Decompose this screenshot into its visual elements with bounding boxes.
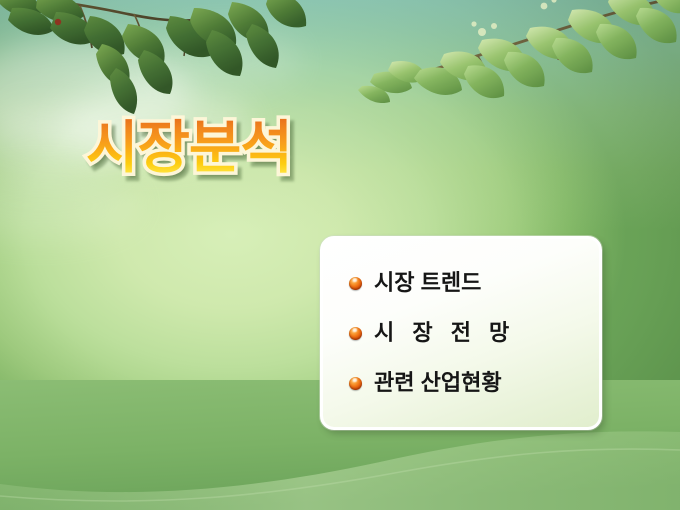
bullet-sphere-icon bbox=[349, 327, 362, 340]
content-panel-inner: 시장 트렌드 시 장 전 망 관련 산업현황 bbox=[323, 239, 599, 427]
list-item[interactable]: 시 장 전 망 bbox=[349, 308, 599, 358]
list-item-label: 시 장 전 망 bbox=[374, 322, 515, 344]
list-item-label: 시장 트렌드 bbox=[374, 272, 481, 294]
list-item-label: 관련 산업현황 bbox=[374, 372, 502, 394]
content-panel: 시장 트렌드 시 장 전 망 관련 산업현황 bbox=[320, 236, 602, 430]
page-title-text: 시장분석 bbox=[86, 118, 292, 178]
list-item[interactable]: 시장 트렌드 bbox=[349, 258, 599, 308]
bullet-sphere-icon bbox=[349, 277, 362, 290]
list-item[interactable]: 관련 산업현황 bbox=[349, 358, 599, 408]
presentation-slide: 시장분석 시장분석 시장분석 시장 트렌드 시 장 전 망 관련 산업현황 bbox=[0, 0, 680, 510]
bullet-sphere-icon bbox=[349, 377, 362, 390]
page-title: 시장분석 시장분석 시장분석 bbox=[86, 118, 506, 202]
